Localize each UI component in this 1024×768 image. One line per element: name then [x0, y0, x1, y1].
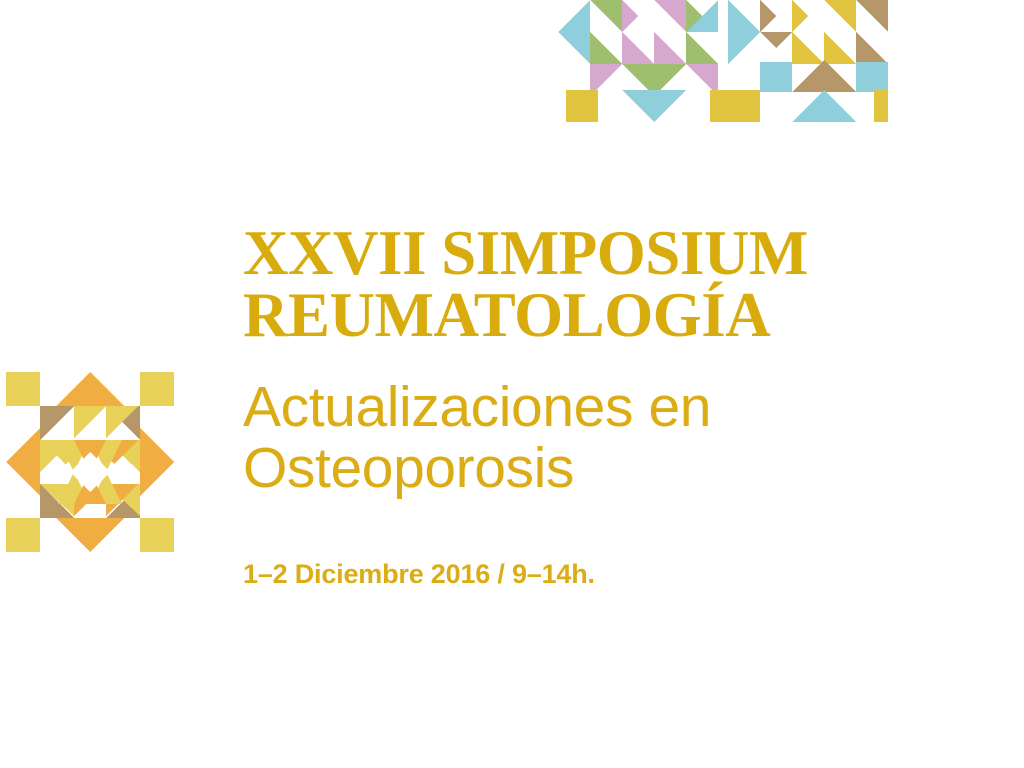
event-dateline: 1–2 Diciembre 2016 / 9–14h. [243, 559, 943, 590]
poster-text-block: XXVII SIMPOSIUM REUMATOLOGÍA Actualizaci… [243, 222, 943, 590]
quilt-band-top-right [558, 0, 888, 122]
page-title: XXVII SIMPOSIUM REUMATOLOGÍA [243, 222, 943, 347]
quilt-block-left [2, 368, 178, 556]
poster-canvas: XXVII SIMPOSIUM REUMATOLOGÍA Actualizaci… [0, 0, 1024, 768]
poster-subtitle: Actualizaciones en Osteoporosis [243, 377, 943, 499]
